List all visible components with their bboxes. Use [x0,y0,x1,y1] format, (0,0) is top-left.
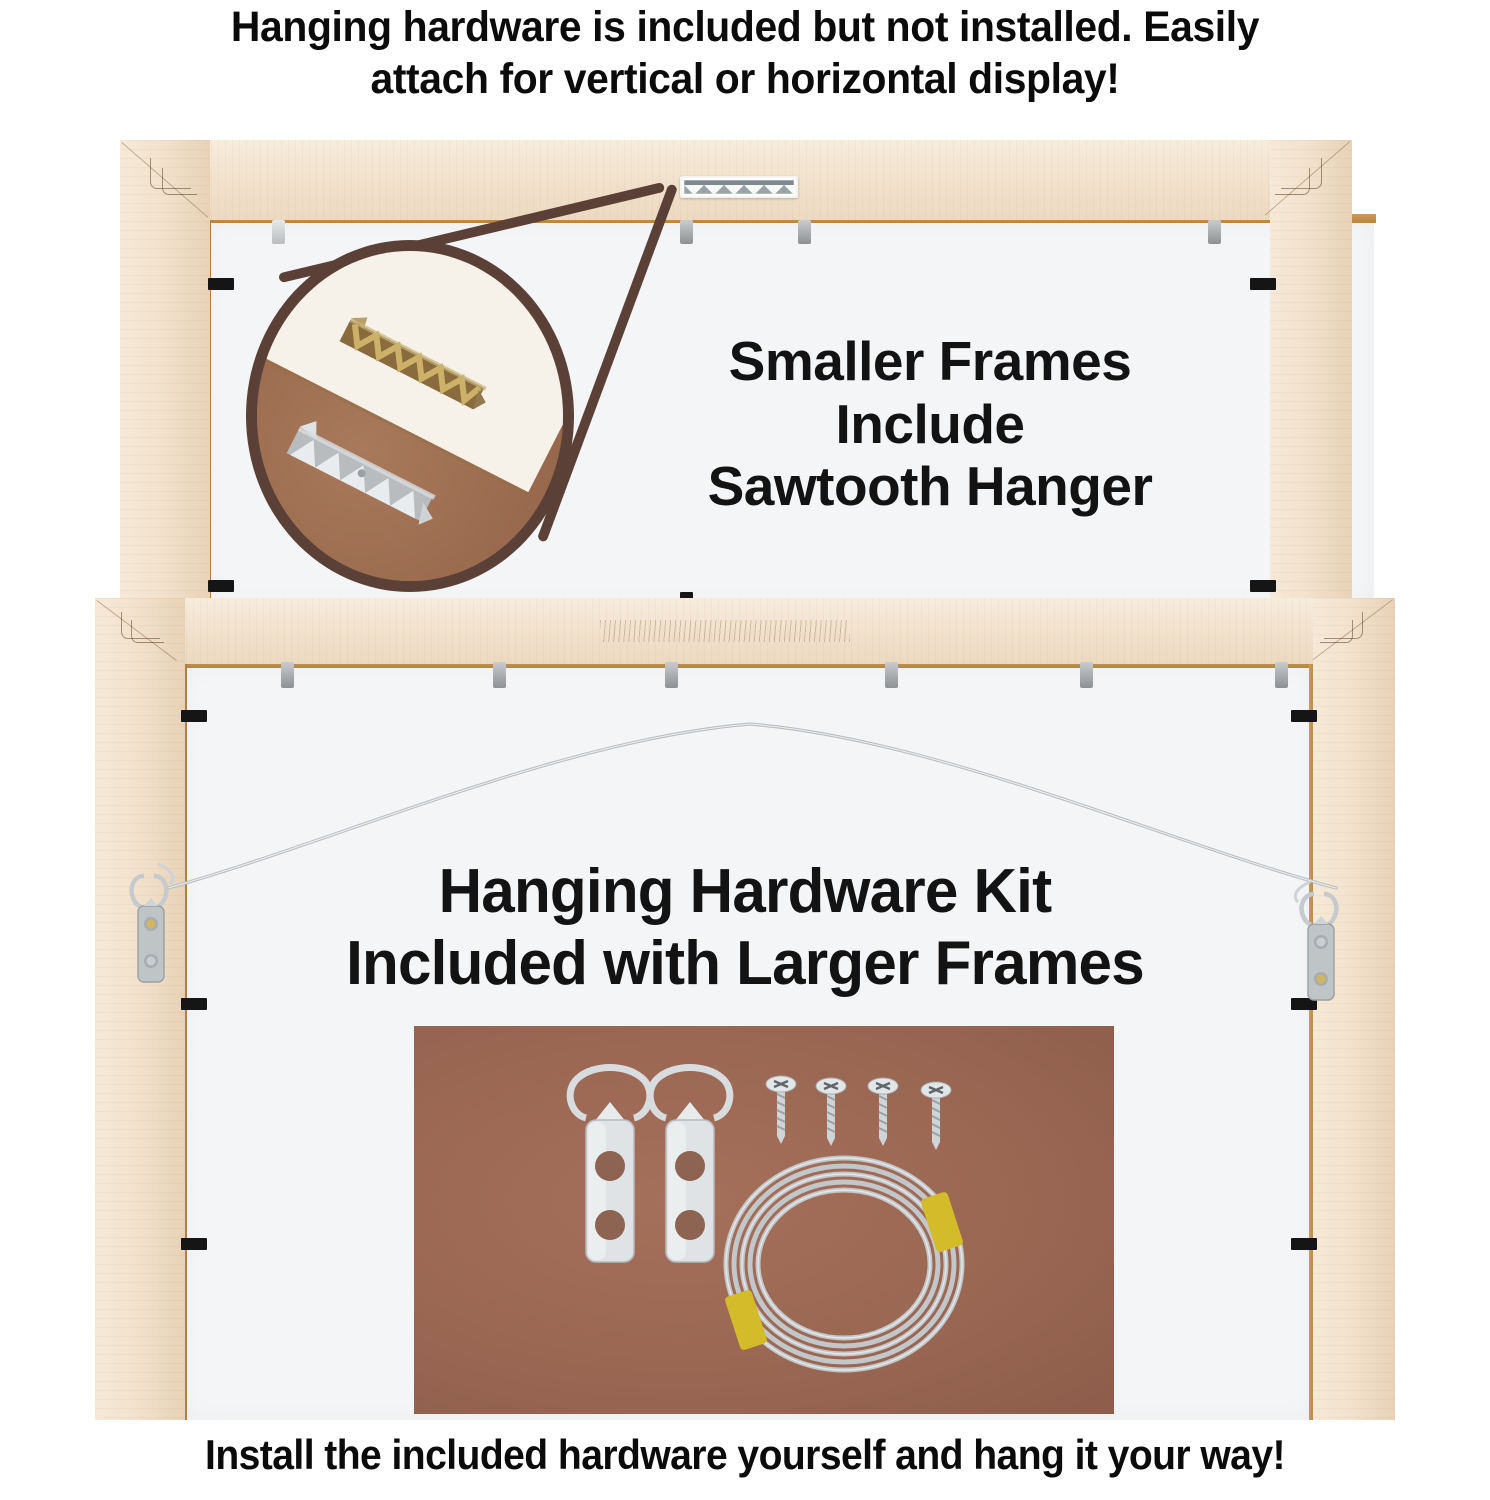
phillips-screw-item [766,1076,796,1144]
backing-clip [1291,1238,1317,1250]
backing-clip [1250,278,1276,290]
small-frame-right-rail [1270,140,1352,608]
headline-line-2: attach for vertical or horizontal displa… [51,54,1440,106]
backing-clip [1275,662,1288,688]
backing-clip [1250,580,1276,592]
backing-clip [181,1238,207,1250]
large-frame-caption-line-1: Hanging Hardware Kit [197,856,1293,928]
backing-clip [493,662,506,688]
backing-clip [798,220,811,244]
d-ring-hanger-item [650,1068,730,1263]
d-ring-hanger-item [570,1068,650,1263]
d-ring-hanger-right [1294,880,1368,1026]
small-frame-left-rail [120,140,210,608]
backing-clip [885,662,898,688]
small-frame-caption-line-1: Smaller Frames [620,330,1240,393]
coiled-hanging-wire-item [724,1158,964,1370]
backing-clip [665,662,678,688]
infographic-canvas: Hanging hardware is included but not ins… [0,0,1490,1500]
large-frame-caption: Hanging Hardware Kit Included with Large… [197,856,1293,1000]
backing-clip [1080,662,1093,688]
sawtooth-callout-circle [246,240,574,592]
small-frame-caption: Smaller Frames Include Sawtooth Hanger [620,330,1240,518]
d-ring-hanger-left [124,862,198,1008]
d-ring-hanger-icon [1294,880,1368,1026]
backing-clip [208,278,234,290]
sawtooth-hangers-photo [257,251,563,581]
headline-line-1: Hanging hardware is included but not ins… [51,2,1440,54]
backing-clip [281,662,294,688]
headline-text: Hanging hardware is included but not ins… [37,2,1453,105]
wood-distress-mark [600,620,850,642]
hardware-kit-items [414,1026,1114,1414]
d-ring-hanger-icon [124,862,198,1008]
large-frame-caption-line-2: Included with Larger Frames [197,928,1293,1000]
hardware-kit-photo [414,1026,1114,1414]
phillips-screw-item [921,1082,951,1150]
phillips-screw-item [816,1078,846,1146]
backing-clip [208,580,234,592]
phillips-screw-item [868,1078,898,1146]
small-frame-caption-line-2: Include [620,393,1240,456]
footer-text: Install the included hardware yourself a… [52,1432,1438,1478]
small-frame-caption-line-3: Sawtooth Hanger [620,455,1240,518]
backing-clip [1208,220,1221,244]
